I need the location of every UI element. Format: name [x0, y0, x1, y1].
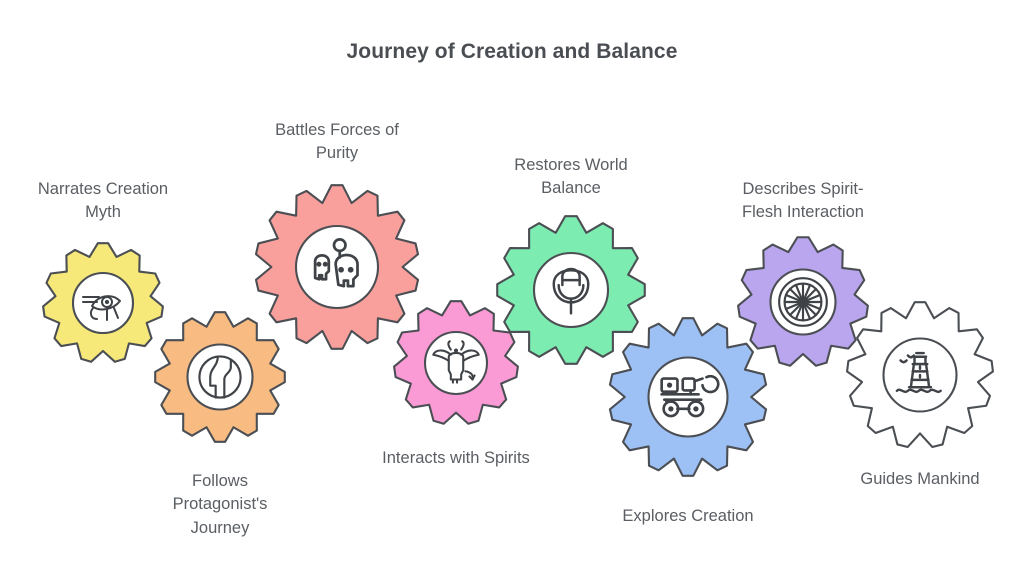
gear-node-8[interactable]	[839, 294, 1001, 456]
gear-body-1	[43, 243, 163, 362]
gear-label-6: Explores Creation	[573, 505, 803, 528]
gear-label-2: Follows Protagonist's Journey	[105, 470, 335, 540]
page-title: Journey of Creation and Balance	[0, 40, 1024, 64]
gear-label-4: Interacts with Spirits	[341, 447, 571, 470]
citrus-wheel-icon	[779, 278, 827, 326]
gear-label-7: Describes Spirit- Flesh Interaction	[688, 178, 918, 225]
gear-label-3: Battles Forces of Purity	[222, 119, 452, 166]
gear-label-8: Guides Mankind	[805, 468, 1024, 491]
infographic-canvas: Journey of Creation and Balance	[0, 0, 1024, 585]
gear-body-8	[847, 302, 993, 447]
gear-label-5: Restores World Balance	[456, 154, 686, 201]
gear-label-1: Narrates Creation Myth	[0, 178, 218, 225]
